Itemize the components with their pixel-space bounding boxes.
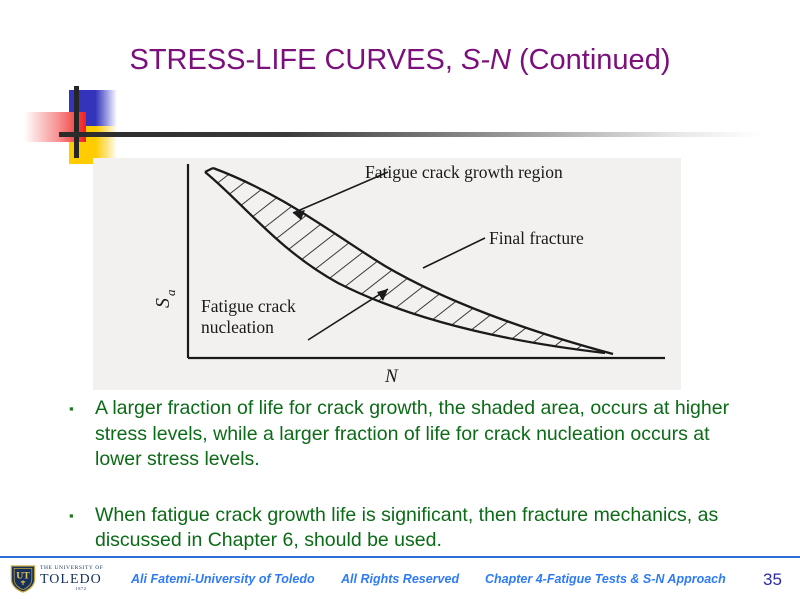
bullet-marker-icon: ▪ — [66, 396, 95, 422]
bullet-text-2: When fatigue crack growth life is signif… — [95, 503, 746, 554]
page-title-main: STRESS-LIFE CURVES, — [130, 44, 461, 76]
nucleation-label-line2: nucleation — [201, 317, 274, 337]
final-fracture-leader — [423, 238, 485, 268]
page-title: STRESS-LIFE CURVES, S-N (Continued) — [0, 44, 800, 77]
final-fracture-label: Final fracture — [489, 228, 584, 248]
sn-curve-figure: S a N Fatigue crack growth region Final … — [93, 158, 681, 390]
sn-curve-svg: S a N Fatigue crack growth region Final … — [93, 158, 681, 390]
footer-author: Ali Fatemi-University of Toledo — [131, 572, 315, 586]
footer-rights: All Rights Reserved — [341, 572, 459, 586]
horizontal-rule — [59, 132, 759, 137]
y-axis-label: S a — [152, 289, 178, 308]
vertical-bar-icon — [74, 86, 79, 158]
footer-chapter: Chapter 4-Fatigue Tests & S-N Approach — [485, 572, 726, 586]
x-axis-label: N — [384, 366, 399, 387]
page-number: 35 — [763, 570, 782, 590]
page-title-italic: S-N — [461, 44, 511, 76]
logo-name: TOLEDO — [40, 572, 122, 587]
ut-toledo-logo: UT THE UNIVERSITY OF TOLEDO 1872 — [10, 563, 122, 594]
logo-year: 1872 — [40, 587, 122, 592]
y-axis-label-subscript: a — [163, 289, 178, 296]
bullet-marker-icon: ▪ — [66, 503, 95, 529]
decorative-squares-block — [24, 86, 274, 158]
nucleation-leader — [308, 289, 388, 340]
list-item: ▪ When fatigue crack growth life is sign… — [66, 503, 746, 554]
y-axis-label-text: S — [152, 298, 174, 308]
page-title-tail: (Continued) — [511, 44, 671, 76]
shield-icon: UT — [10, 563, 36, 594]
growth-region-label: Fatigue crack growth region — [365, 162, 563, 182]
bullet-text-1: A larger fraction of life for crack grow… — [95, 396, 746, 473]
nucleation-label-line1: Fatigue crack — [201, 296, 296, 316]
list-item: ▪ A larger fraction of life for crack gr… — [66, 396, 746, 473]
logo-monogram: UT — [16, 571, 30, 582]
logo-wordmark: THE UNIVERSITY OF TOLEDO 1872 — [40, 566, 122, 591]
